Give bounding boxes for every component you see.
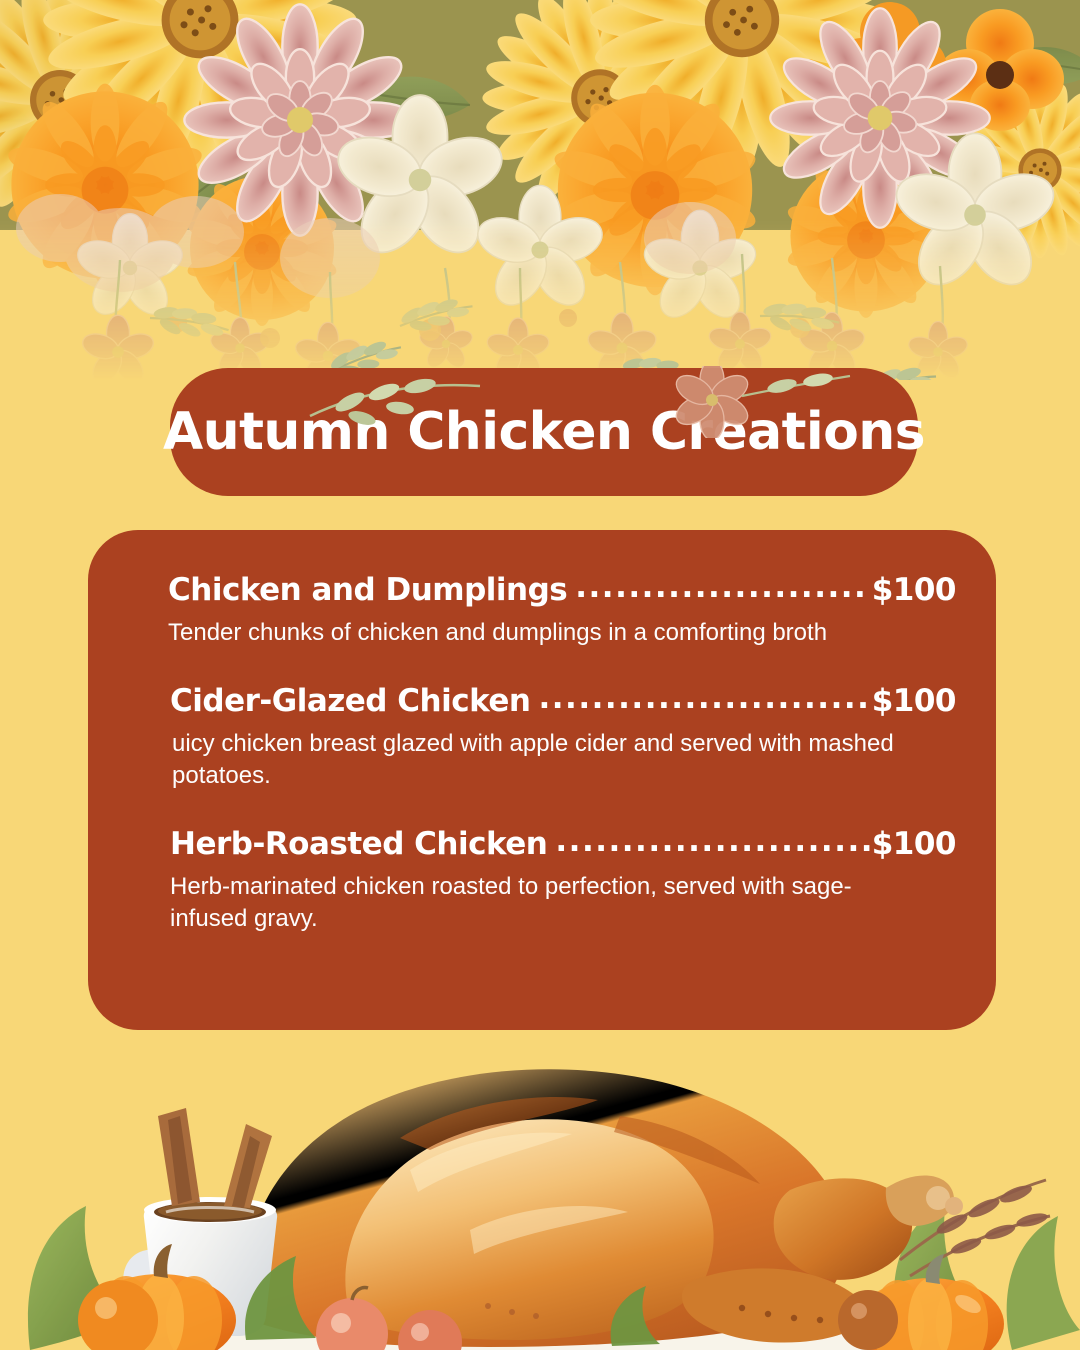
menu-item-price: $100 [872, 826, 956, 862]
leader-dots: ........................................… [555, 823, 869, 859]
page-title: Autumn Chicken Creations [163, 402, 925, 462]
floral-border-top [0, 0, 1080, 380]
menu-item-name: Chicken and Dumplings [168, 572, 567, 608]
menu-item-head: Cider-Glazed Chicken ...................… [170, 683, 956, 719]
menu-item-description: Herb-marinated chicken roasted to perfec… [170, 871, 905, 935]
menu-item-price: $100 [872, 683, 956, 719]
menu-card: Chicken and Dumplings ..................… [88, 530, 996, 1030]
menu-item-name: Cider-Glazed Chicken [170, 683, 531, 719]
menu-item-description: Tender chunks of chicken and dumplings i… [168, 617, 903, 649]
menu-item-price: $100 [872, 572, 956, 608]
menu-poster: Autumn Chicken Creations [0, 0, 1080, 1350]
menu-item: Cider-Glazed Chicken ...................… [88, 683, 996, 792]
leader-dots: ........................................… [539, 680, 870, 716]
menu-item-name: Herb-Roasted Chicken [170, 826, 547, 862]
menu-item: Herb-Roasted Chicken ...................… [88, 826, 996, 935]
menu-item-head: Chicken and Dumplings ..................… [168, 572, 956, 608]
turkey-illustration [0, 1020, 1080, 1350]
menu-item-head: Herb-Roasted Chicken ...................… [170, 826, 956, 862]
menu-item: Chicken and Dumplings ..................… [88, 572, 996, 649]
title-banner: Autumn Chicken Creations [170, 368, 918, 496]
menu-item-description: uicy chicken breast glazed with apple ci… [172, 728, 907, 792]
leader-dots: ........................................… [575, 569, 869, 605]
